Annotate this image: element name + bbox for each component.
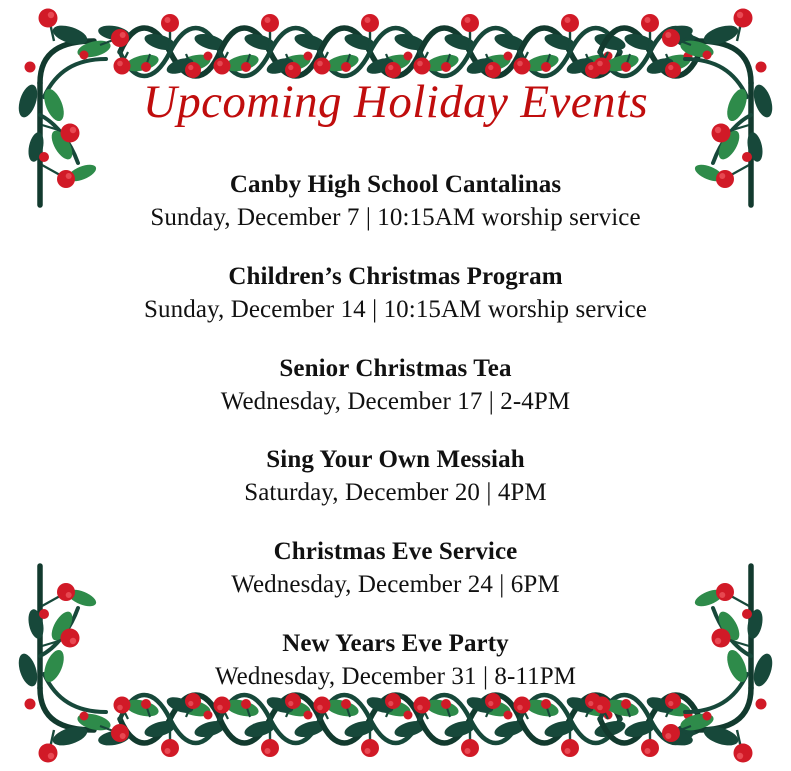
event-name: Christmas Eve Service — [0, 535, 791, 568]
list-item: Christmas Eve Service Wednesday, Decembe… — [0, 535, 791, 602]
list-item: Children’s Christmas Program Sunday, Dec… — [0, 260, 791, 327]
event-detail: Wednesday, December 31 | 8-11PM — [0, 660, 791, 694]
page-title: Upcoming Holiday Events — [0, 78, 791, 127]
event-name: Canby High School Cantalinas — [0, 168, 791, 201]
list-item: Canby High School Cantalinas Sunday, Dec… — [0, 168, 791, 235]
event-detail: Wednesday, December 24 | 6PM — [0, 568, 791, 602]
poster-content: Upcoming Holiday Events Canby High Schoo… — [0, 0, 791, 771]
list-item: New Years Eve Party Wednesday, December … — [0, 627, 791, 694]
event-detail: Sunday, December 7 | 10:15AM worship ser… — [0, 201, 791, 235]
list-item: Senior Christmas Tea Wednesday, December… — [0, 352, 791, 419]
event-detail: Wednesday, December 17 | 2-4PM — [0, 385, 791, 419]
holiday-events-poster: Upcoming Holiday Events Canby High Schoo… — [0, 0, 791, 771]
event-name: Sing Your Own Messiah — [0, 443, 791, 476]
event-name: Senior Christmas Tea — [0, 352, 791, 385]
event-name: New Years Eve Party — [0, 627, 791, 660]
events-list: Canby High School Cantalinas Sunday, Dec… — [0, 168, 791, 694]
list-item: Sing Your Own Messiah Saturday, December… — [0, 443, 791, 510]
event-detail: Saturday, December 20 | 4PM — [0, 476, 791, 510]
event-detail: Sunday, December 14 | 10:15AM worship se… — [0, 293, 791, 327]
event-name: Children’s Christmas Program — [0, 260, 791, 293]
